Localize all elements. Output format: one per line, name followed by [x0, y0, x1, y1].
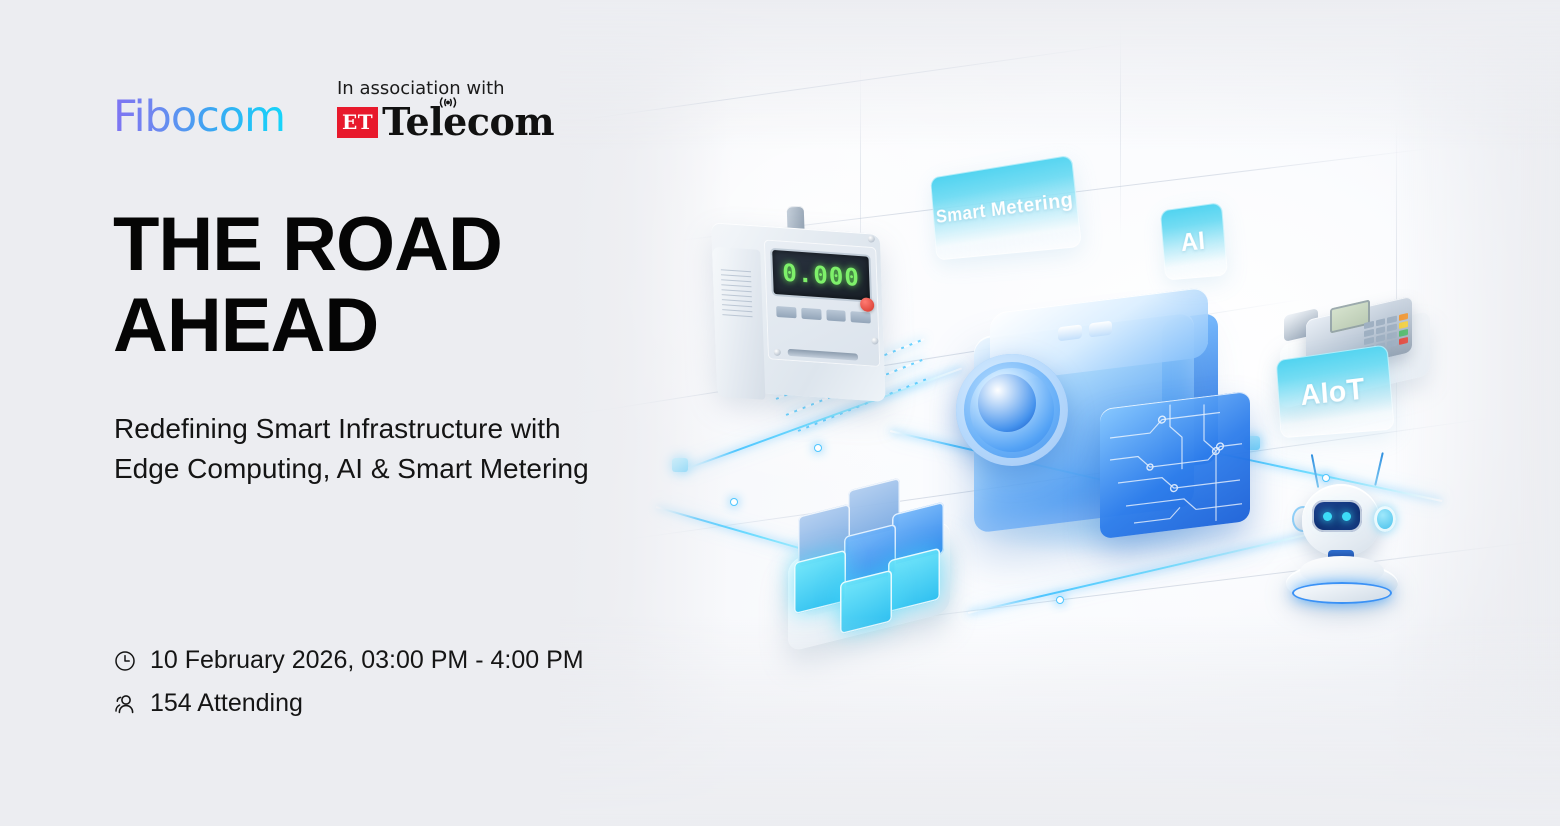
meter-lcd-display: 0.000 — [772, 250, 870, 301]
partner-logo-block: In association with ET Telecom — [337, 78, 554, 141]
data-cube-stack — [782, 474, 958, 642]
event-datetime-text: 10 February 2026, 03:00 PM - 4:00 PM — [150, 646, 584, 675]
camera-lens — [956, 354, 1068, 466]
title-line-1: THE ROAD — [113, 202, 502, 287]
event-datetime-row: 10 February 2026, 03:00 PM - 4:00 PM — [113, 646, 584, 675]
subtitle-line-1: Redefining Smart Infrastructure with — [114, 413, 561, 444]
smart-meter-device: 0.000 — [707, 199, 896, 403]
et-mark: ET — [337, 107, 378, 138]
association-label: In association with — [337, 78, 505, 99]
title-line-2: AHEAD — [113, 283, 378, 368]
subtitle-line-2: Edge Computing, AI & Smart Metering — [114, 453, 589, 484]
telecom-wordmark: Telecom — [382, 103, 554, 141]
robot-face-visor — [1312, 500, 1362, 532]
network-node — [814, 444, 822, 452]
hero-illustration: 0.000 — [560, 0, 1560, 826]
robot-glow-ring — [1292, 582, 1392, 604]
robot-assistant — [1280, 466, 1406, 616]
page-subtitle: Redefining Smart Infrastructure with Edg… — [114, 409, 674, 489]
et-telecom-logo: ET Telecom — [337, 103, 554, 141]
meter-reading: 0.000 — [782, 259, 860, 292]
meter-vents — [721, 269, 753, 323]
robot-eye — [1323, 512, 1332, 521]
telecom-text: Telecom — [382, 99, 554, 144]
meter-reset-button — [860, 297, 875, 312]
clock-icon — [113, 649, 137, 673]
circuit-pattern-icon — [1100, 391, 1250, 539]
robot-eye — [1342, 512, 1351, 521]
event-banner: 0.000 — [0, 0, 1560, 826]
banner-content: Fibocom In association with ET Telecom — [0, 0, 680, 826]
robot-ear — [1374, 506, 1396, 532]
event-attendance-text: 154 Attending — [150, 689, 303, 718]
antenna-signal-icon — [435, 94, 461, 112]
network-node — [730, 498, 738, 506]
tag-ai: AI — [1160, 202, 1228, 280]
fibocom-logo: Fibocom — [113, 96, 285, 141]
people-icon — [113, 692, 137, 716]
logo-row: Fibocom In association with ET Telecom — [113, 78, 554, 141]
glass-camera-device — [932, 288, 1262, 556]
page-title: THE ROAD AHEAD — [113, 204, 633, 367]
tag-aiot: AIoT — [1276, 344, 1395, 438]
network-node — [1056, 596, 1064, 604]
event-attendance-row: 154 Attending — [113, 689, 584, 718]
event-meta: 10 February 2026, 03:00 PM - 4:00 PM 154… — [113, 646, 584, 718]
camera-circuit-panel — [1100, 391, 1250, 539]
